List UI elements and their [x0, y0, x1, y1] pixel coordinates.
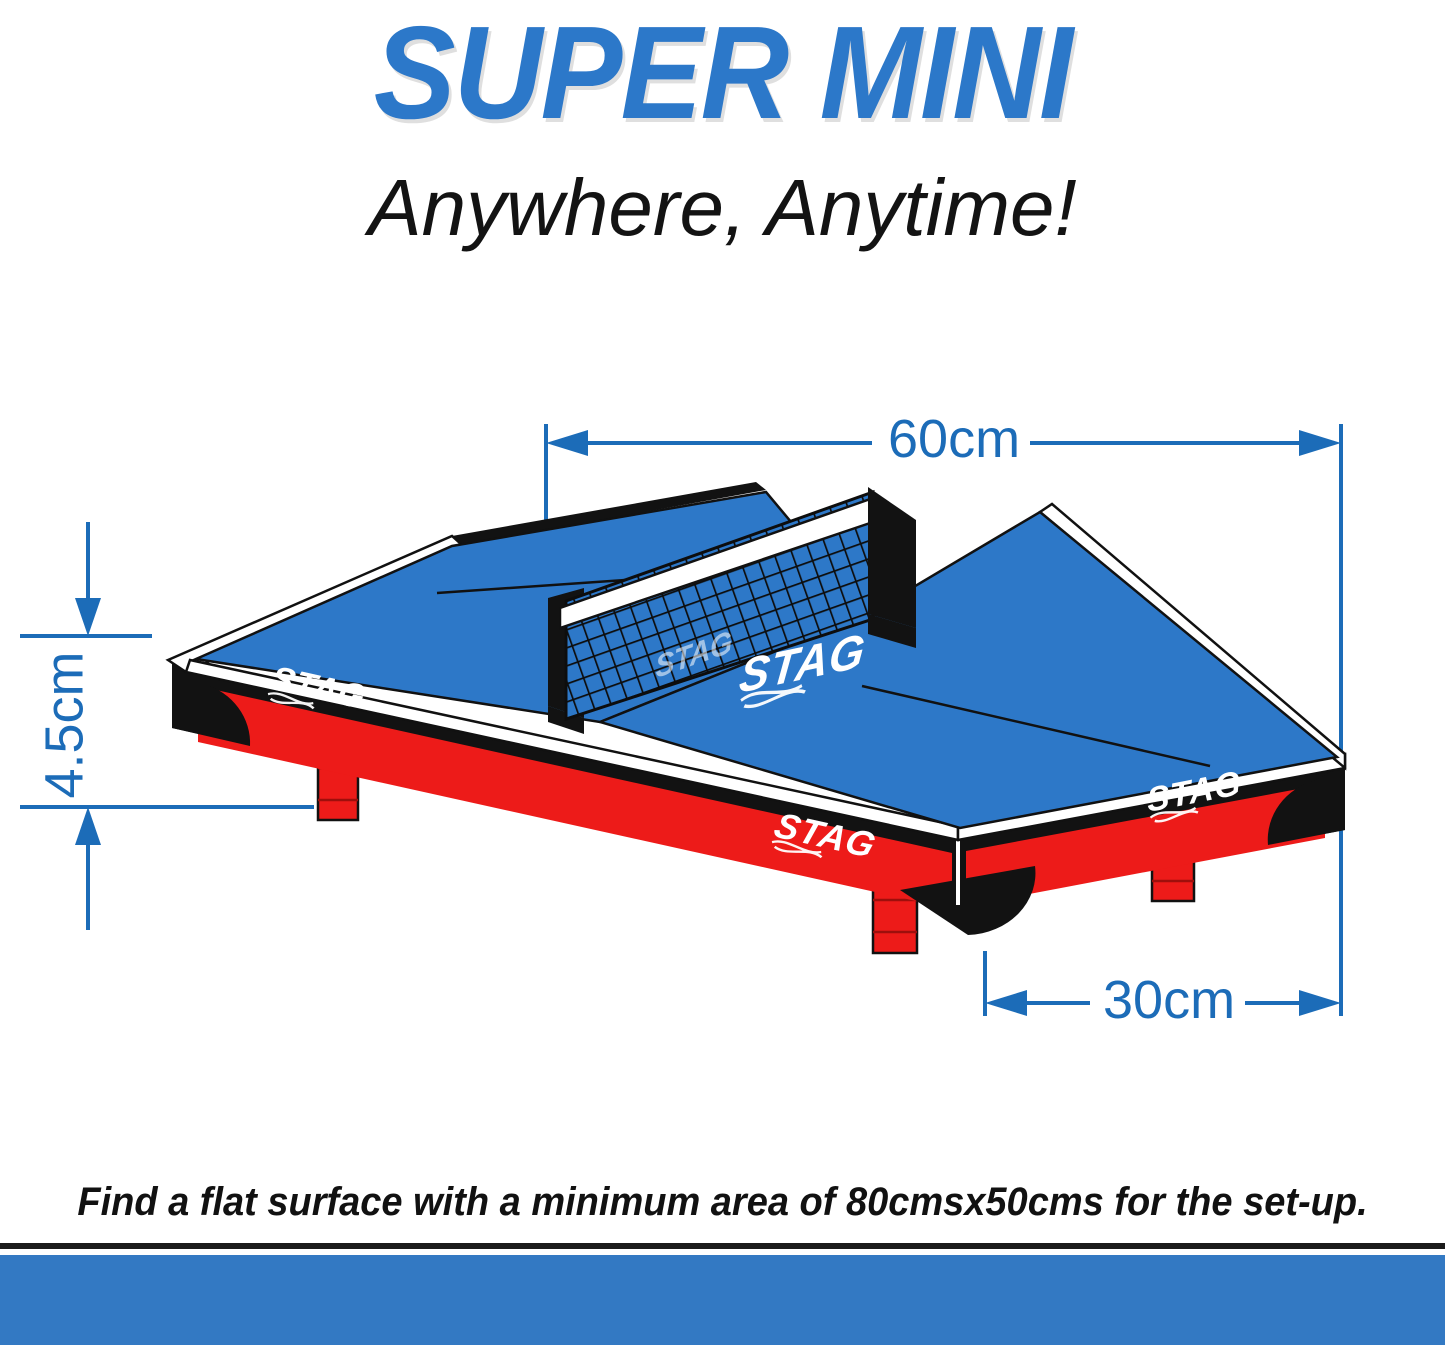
table-assembly: STAG STAG STAG STAG	[168, 470, 1345, 953]
dimension-width-label: 60cm	[878, 412, 1030, 466]
net-post-right	[868, 487, 916, 628]
width-arrow-right	[1299, 430, 1341, 456]
depth-arrow-left	[985, 990, 1027, 1016]
width-arrow-left	[546, 430, 588, 456]
setup-note: Find a flat surface with a minimum area …	[36, 1178, 1409, 1226]
height-arrow-top	[75, 598, 101, 636]
dimension-depth-label: 30cm	[1093, 973, 1245, 1027]
depth-arrow-right	[1299, 990, 1341, 1016]
infographic-page: SUPER MINI Anywhere, Anytime!	[0, 0, 1445, 1345]
product-illustration: STAG STAG STAG STAG	[0, 0, 1445, 1345]
footer-color-bar	[0, 1255, 1445, 1345]
dimension-height-label: 4.5cm	[38, 640, 92, 810]
table-tennis-table-diagram: STAG STAG STAG STAG	[0, 0, 1445, 1345]
height-arrow-bottom	[75, 807, 101, 845]
dimension-height-label-text: 4.5cm	[38, 645, 92, 804]
